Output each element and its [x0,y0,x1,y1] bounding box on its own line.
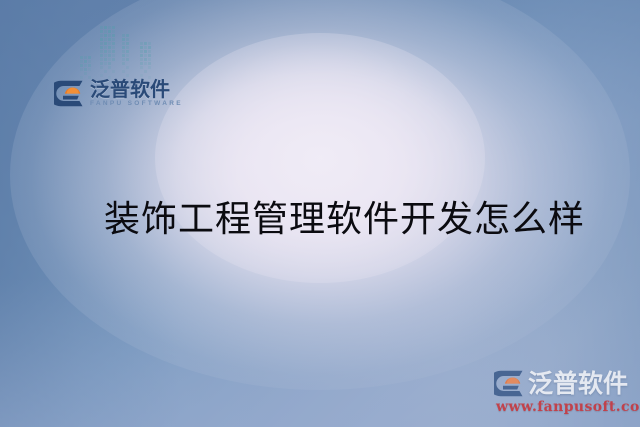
watermark-logo-mark-icon [494,369,524,398]
background-glow [10,0,630,390]
banner-canvas: 泛普软件 FANPU SOFTWARE 装饰工程管理软件开发怎么样 泛普软件 w… [0,0,640,427]
background-glow-core [155,33,485,283]
watermark-logo-row: 泛普软件 [494,369,634,398]
brand-logo[interactable]: 泛普软件 FANPU SOFTWARE [54,79,183,108]
fanpu-logo-mark-icon [54,79,84,108]
brand-text-block: 泛普软件 FANPU SOFTWARE [90,79,183,108]
brand-english-name: FANPU SOFTWARE [90,101,183,108]
watermark-chinese-name: 泛普软件 [528,371,628,396]
page-title: 装饰工程管理软件开发怎么样 [104,199,585,241]
watermark-url: www.fanpusoft.com [496,399,634,415]
watermark: 泛普软件 www.fanpusoft.com [494,369,634,415]
brand-chinese-name: 泛普软件 [90,79,183,99]
